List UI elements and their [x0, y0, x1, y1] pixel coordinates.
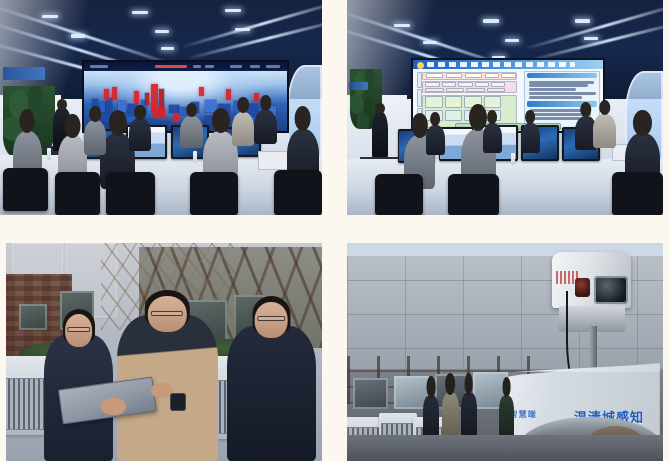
office-chair	[612, 172, 663, 215]
photo-control-room-slide[interactable]	[347, 0, 663, 215]
attendee	[593, 114, 615, 148]
office-chair	[190, 172, 238, 215]
photo-grid-page: 温清城感知 智慧端	[0, 0, 670, 461]
ceiling-downlight	[505, 39, 519, 42]
slide-title-text	[427, 62, 575, 66]
wristwatch	[170, 393, 186, 410]
ceiling-downlight	[71, 34, 85, 37]
ceiling-downlight	[155, 30, 169, 33]
photo-control-room-3d[interactable]	[0, 0, 322, 215]
rooftop-ground	[347, 435, 663, 461]
office-chair	[106, 172, 154, 215]
attendee	[521, 123, 540, 153]
office-chair	[55, 172, 100, 215]
ceiling-downlight	[492, 56, 505, 59]
attendee	[426, 125, 445, 155]
wall-signage	[349, 82, 368, 91]
office-chair	[3, 168, 48, 211]
attendee	[232, 112, 255, 146]
ceiling-downlight	[235, 28, 249, 31]
hand	[101, 398, 126, 415]
attendee	[84, 120, 107, 154]
office-chair	[375, 174, 422, 215]
wall-signage	[3, 67, 45, 80]
ceiling-downlight	[394, 24, 410, 27]
ceiling-downlight	[132, 11, 148, 14]
water-bottle	[511, 153, 515, 165]
ceiling-downlight	[483, 19, 499, 22]
ceiling-downlight	[575, 19, 591, 22]
eyeglasses-icon	[258, 316, 285, 321]
ceiling-downlight	[225, 9, 241, 12]
office-chair	[448, 174, 499, 215]
eyeglasses-icon	[67, 327, 91, 332]
office-chair	[274, 170, 322, 215]
window	[19, 304, 47, 330]
attendee	[129, 118, 152, 150]
ceiling-downlight	[584, 37, 598, 40]
ceiling-downlight	[423, 41, 437, 44]
person-right	[227, 326, 315, 461]
water-bottle	[193, 151, 197, 163]
water-bottle	[47, 148, 51, 160]
attendee	[180, 116, 203, 148]
presenter-head	[375, 103, 384, 114]
slide-title-bar	[413, 60, 603, 69]
presenter	[372, 112, 388, 159]
photo-field-inspection[interactable]	[6, 243, 322, 461]
photo-rooftop-equipment[interactable]: 温清城感知 智慧端	[347, 243, 663, 461]
eyeglasses-icon	[151, 311, 183, 316]
presenter-head	[57, 99, 67, 110]
attendee	[483, 123, 502, 153]
window	[353, 378, 388, 409]
presentation-slide[interactable]	[413, 60, 603, 131]
ceiling-downlight	[42, 15, 58, 18]
attendee	[254, 110, 277, 144]
ceiling-downlight	[161, 47, 174, 50]
bullet-marker	[417, 62, 424, 69]
